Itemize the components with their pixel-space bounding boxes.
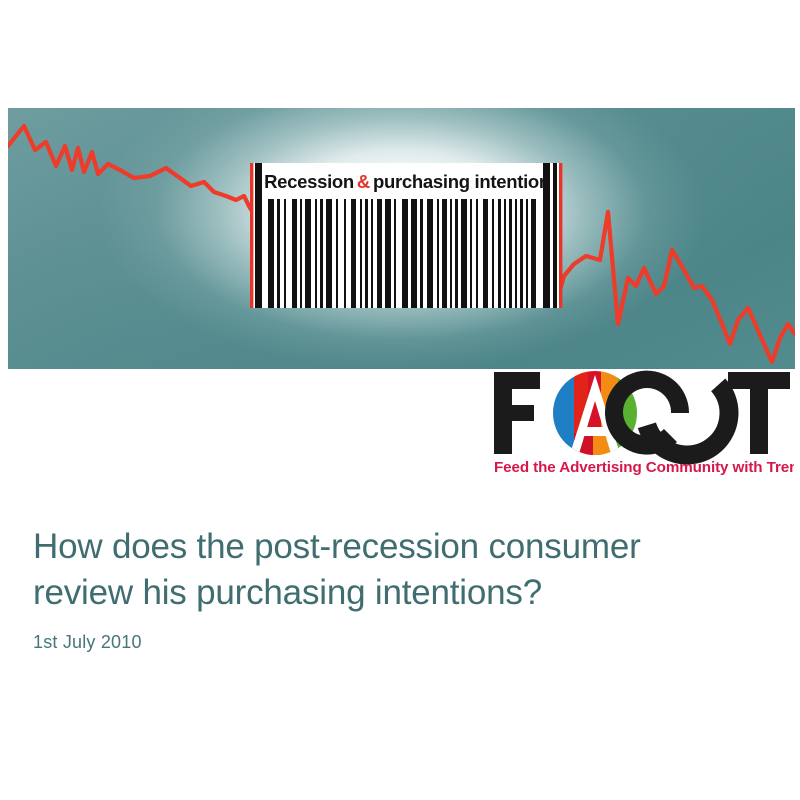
publication-date: 1st July 2010 xyxy=(33,630,142,654)
page-title: How does the post-recession consumer rev… xyxy=(33,524,763,616)
barcode-panel: Recession & purchasing intention xyxy=(246,163,566,308)
barcode-guard-left-black xyxy=(255,163,262,308)
fact-logo: Feed the Advertising Community with Tren… xyxy=(488,367,794,479)
barcode-caption-suffix: purchasing intention xyxy=(373,173,550,192)
page-title-line-1: How does the post-recession consumer xyxy=(33,527,641,566)
barcode-caption: Recession & purchasing intention xyxy=(268,167,546,197)
page-title-line-2: review his purchasing intentions? xyxy=(33,570,763,616)
barcode-guard-right-black-b xyxy=(553,163,557,308)
logo-letter-f xyxy=(494,372,540,454)
barcode-guard-left-red xyxy=(250,163,253,308)
title-slide: Recession & purchasing intention xyxy=(0,0,800,800)
barcode-caption-prefix: Recession xyxy=(264,173,354,192)
trend-line-left xyxy=(8,126,276,220)
barcode-caption-ampersand: & xyxy=(354,173,373,192)
barcode-guard-right-red xyxy=(559,163,562,308)
hero-banner: Recession & purchasing intention xyxy=(8,108,795,369)
fact-logo-svg: Feed the Advertising Community with Tren… xyxy=(488,367,794,479)
trend-line-right xyxy=(556,212,795,362)
logo-tagline: Feed the Advertising Community with Tren… xyxy=(494,459,794,476)
